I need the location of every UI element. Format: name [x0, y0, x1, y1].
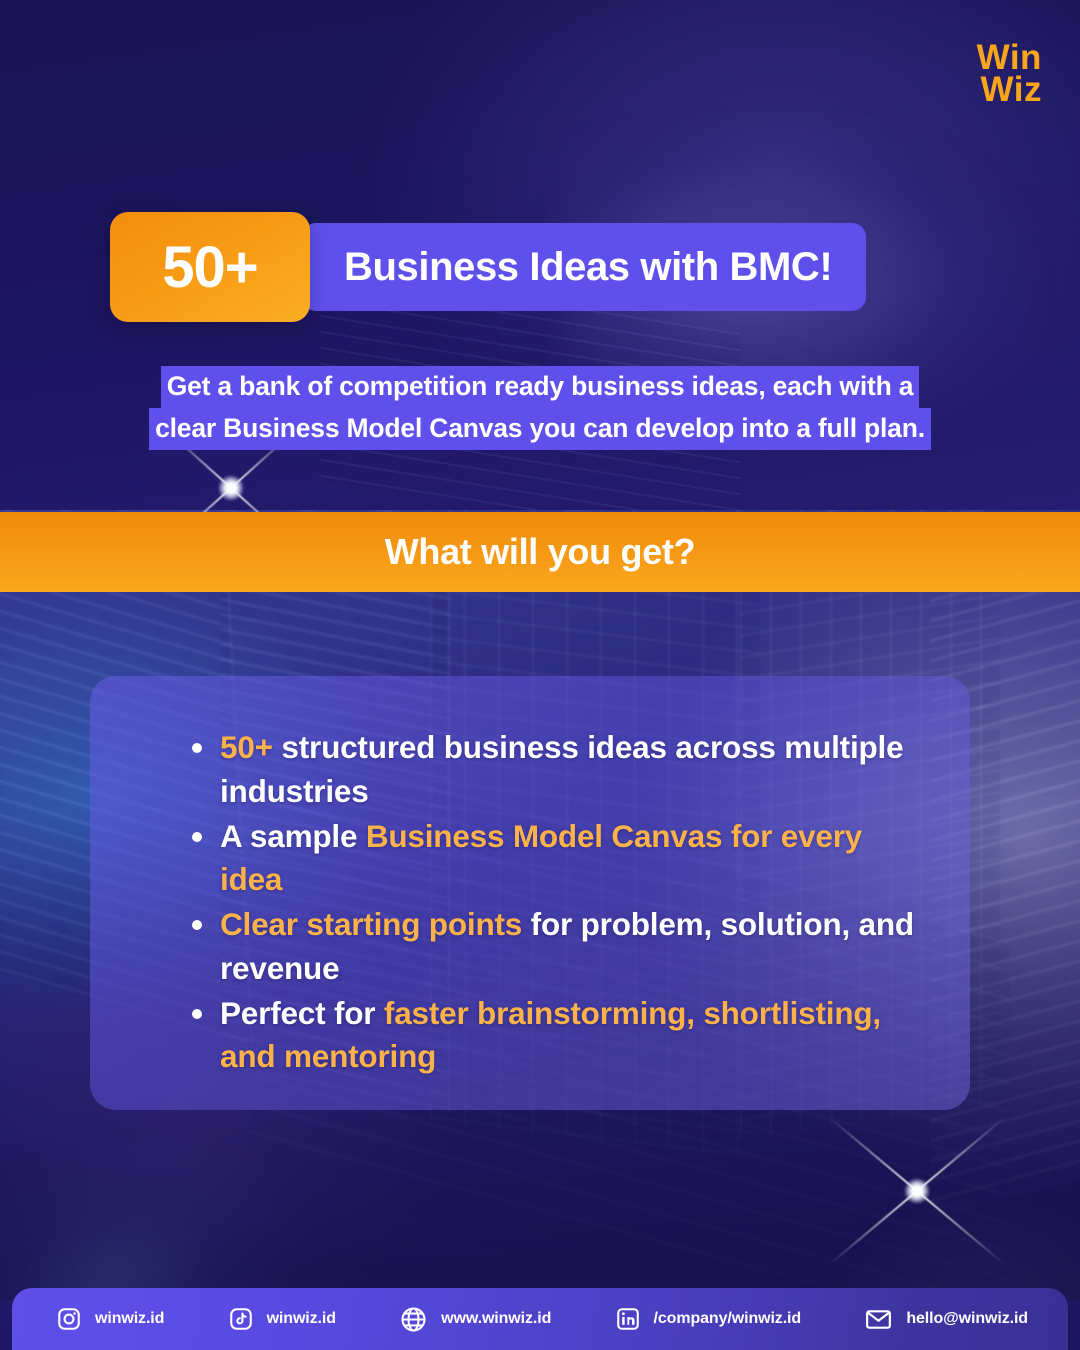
list-item: Clear starting points for problem, solut…: [186, 903, 930, 991]
footer-label: www.winwiz.id: [441, 1310, 551, 1328]
subtitle-line-2: clear Business Model Canvas you can deve…: [149, 408, 931, 450]
logo-line-2: Wiz: [981, 74, 1042, 106]
footer-label: winwiz.id: [267, 1310, 336, 1328]
footer-label: /company/winwiz.id: [654, 1310, 802, 1328]
footer-item-email[interactable]: hello@winwiz.id: [864, 1305, 1028, 1334]
benefits-list: 50+ structured business ideas across mul…: [186, 726, 930, 1079]
subtitle-line-1: Get a bank of competition ready business…: [161, 366, 920, 408]
benefit-lead-highlight: Clear starting points: [220, 906, 522, 942]
brand-logo: Win Wiz: [977, 42, 1042, 106]
linkedin-icon: [615, 1306, 641, 1332]
tiktok-icon: [228, 1306, 254, 1332]
benefit-body: Perfect for: [220, 995, 384, 1031]
social-footer: winwiz.id winwiz.id www.winwiz.id: [12, 1288, 1068, 1350]
footer-label: winwiz.id: [95, 1310, 164, 1328]
hero-title-row: 50+ Business Ideas with BMC!: [110, 212, 866, 322]
email-icon: [864, 1305, 893, 1334]
list-item: A sample Business Model Canvas for every…: [186, 815, 930, 903]
benefits-card: 50+ structured business ideas across mul…: [90, 676, 970, 1110]
footer-item-website[interactable]: www.winwiz.id: [399, 1305, 551, 1334]
instagram-icon: [56, 1306, 82, 1332]
globe-icon: [399, 1305, 428, 1334]
section-heading: What will you get?: [385, 531, 696, 573]
hero-subtitle: Get a bank of competition ready business…: [0, 366, 1080, 450]
section-band: What will you get?: [0, 512, 1080, 592]
benefit-lead-highlight: 50+: [220, 729, 273, 765]
poster-canvas: Win Wiz 50+ Business Ideas with BMC! Get…: [0, 0, 1080, 1350]
count-badge: 50+: [110, 212, 310, 322]
footer-item-instagram[interactable]: winwiz.id: [56, 1306, 164, 1332]
list-item: 50+ structured business ideas across mul…: [186, 726, 930, 814]
footer-label: hello@winwiz.id: [906, 1310, 1028, 1328]
list-item: Perfect for faster brainstorming, shortl…: [186, 992, 930, 1080]
footer-item-linkedin[interactable]: /company/winwiz.id: [615, 1306, 802, 1332]
benefit-body: structured business ideas across multipl…: [220, 729, 903, 809]
page-title: Business Ideas with BMC!: [302, 223, 866, 311]
footer-item-tiktok[interactable]: winwiz.id: [228, 1306, 336, 1332]
benefit-body: A sample: [220, 818, 366, 854]
